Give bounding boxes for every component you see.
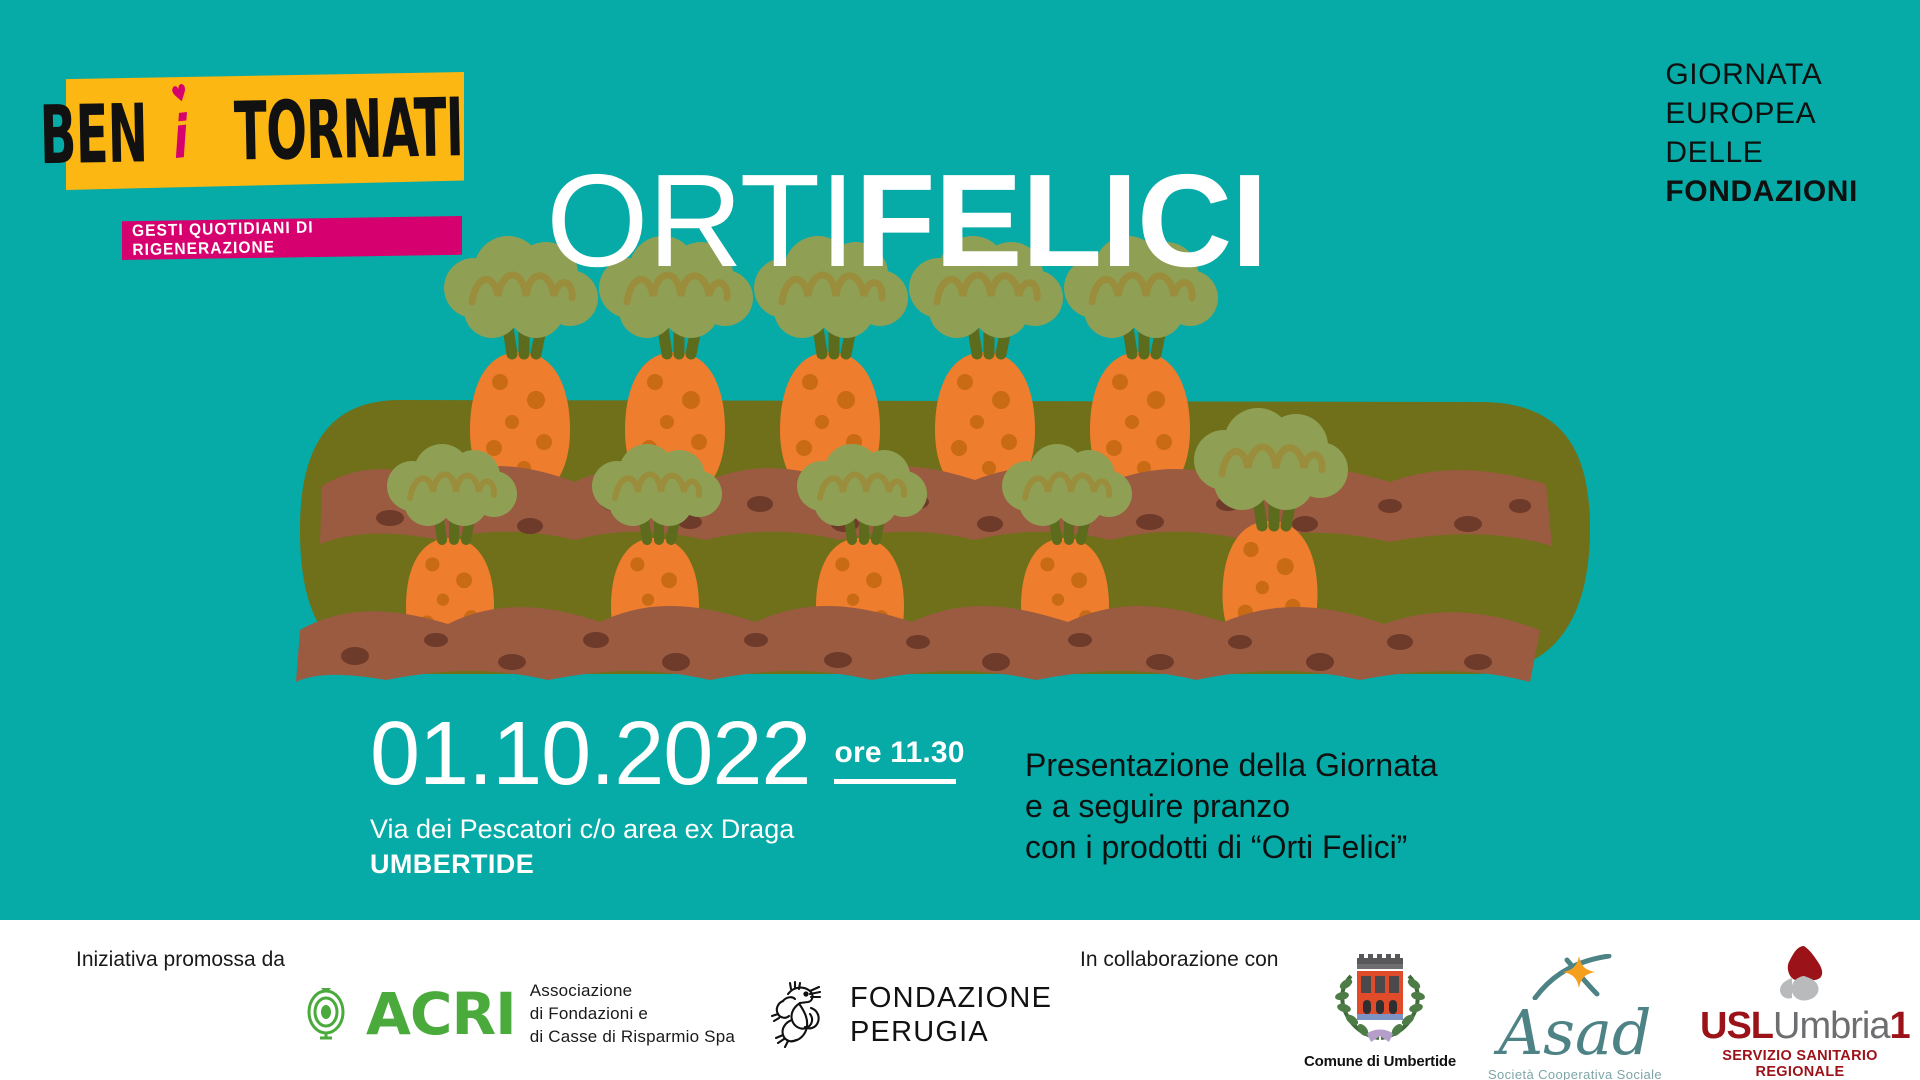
page-title: ORTIFELICI	[546, 155, 1267, 287]
event-description: Presentazione della Giornata e a seguire…	[1025, 745, 1438, 868]
usl-name-light: Umbria	[1773, 1005, 1889, 1047]
acri-subtitle-line-1: Associazione	[530, 980, 735, 1003]
event-time-underline	[834, 779, 956, 784]
usl-umbria-logo: USLUmbria1 SERVIZIO SANITARIO REGIONALE	[1700, 944, 1900, 1080]
gef-line-1: GIORNATA	[1665, 60, 1858, 90]
title-felici: FELICI	[855, 147, 1267, 294]
acri-logo: ACRI Associazione di Fondazioni e di Cas…	[300, 980, 735, 1049]
comune-umbertide-logo: Comune di Umbertide	[1300, 950, 1460, 1070]
poster-canvas: BEN i TORNATI GESTI QUOTIDIANI DI RIGENE…	[0, 0, 1920, 1080]
usl-name-number: 1	[1889, 1005, 1909, 1047]
title-orti: ORTI	[546, 147, 855, 294]
description-line-2: e a seguire pranzo	[1025, 786, 1438, 827]
gef-line-4: FONDAZIONI	[1665, 177, 1858, 207]
acri-subtitle-line-3: di Casse di Risparmio Spa	[530, 1026, 735, 1049]
collaboration-label: In collaborazione con	[1080, 948, 1278, 972]
acri-wordmark: ACRI	[366, 985, 516, 1043]
usl-subtitle: SERVIZIO SANITARIO REGIONALE	[1700, 1048, 1900, 1080]
asad-subtitle: Società Cooperativa Sociale	[1470, 1067, 1680, 1080]
description-line-3: con i prodotti di “Orti Felici”	[1025, 827, 1438, 868]
event-date: 01.10.2022	[370, 712, 810, 798]
logo-word-ben: BEN	[39, 93, 148, 176]
usl-name-bold: USL	[1700, 1005, 1773, 1047]
event-time: ore 11.30	[834, 738, 964, 768]
logo-heart-i: i	[170, 109, 189, 169]
comune-coat-of-arms-icon	[1327, 1033, 1433, 1050]
event-time-wrap: ore 11.30	[834, 738, 964, 798]
date-time-row: 01.10.2022 ore 11.30	[370, 712, 965, 798]
gef-line-3: DELLE	[1665, 138, 1858, 168]
fondazione-perugia-wordmark: FONDAZIONE PERUGIA	[850, 982, 1052, 1049]
comune-label: Comune di Umbertide	[1300, 1053, 1460, 1070]
fp-line-2: PERUGIA	[850, 1016, 1052, 1049]
description-line-1: Presentazione della Giornata	[1025, 745, 1438, 786]
fp-line-1: FONDAZIONE	[850, 982, 1052, 1015]
griffin-icon	[770, 978, 836, 1053]
logo-word-tornati: TORNATI	[233, 87, 463, 172]
acri-subtitle-line-2: di Fondazioni e	[530, 1003, 735, 1026]
giornata-europea-fondazioni: GIORNATA EUROPEA DELLE FONDAZIONI	[1665, 60, 1858, 207]
acri-subtitle: Associazione di Fondazioni e di Casse di…	[530, 980, 735, 1049]
garden-illustration	[0, 230, 1920, 790]
acri-target-icon	[300, 988, 352, 1040]
promoted-by-label: Iniziativa promossa da	[76, 948, 285, 972]
umbria-region-map-icon	[1752, 989, 1848, 1006]
footer-bar: Iniziativa promossa da In collaborazione…	[0, 920, 1920, 1080]
asad-logo: Asad Società Cooperativa Sociale	[1470, 954, 1680, 1080]
fondazione-perugia-logo: FONDAZIONE PERUGIA	[770, 978, 1052, 1053]
event-details: 01.10.2022 ore 11.30 Via dei Pescatori c…	[370, 712, 965, 882]
asad-wordmark: Asad	[1470, 1005, 1680, 1061]
usl-wordmark: USLUmbria1	[1700, 1007, 1900, 1045]
gef-line-2: EUROPEA	[1665, 99, 1858, 129]
event-address: Via dei Pescatori c/o area ex Draga	[370, 812, 965, 847]
event-city: UMBERTIDE	[370, 847, 965, 882]
logo-wordmark: BEN i TORNATI	[59, 68, 465, 194]
